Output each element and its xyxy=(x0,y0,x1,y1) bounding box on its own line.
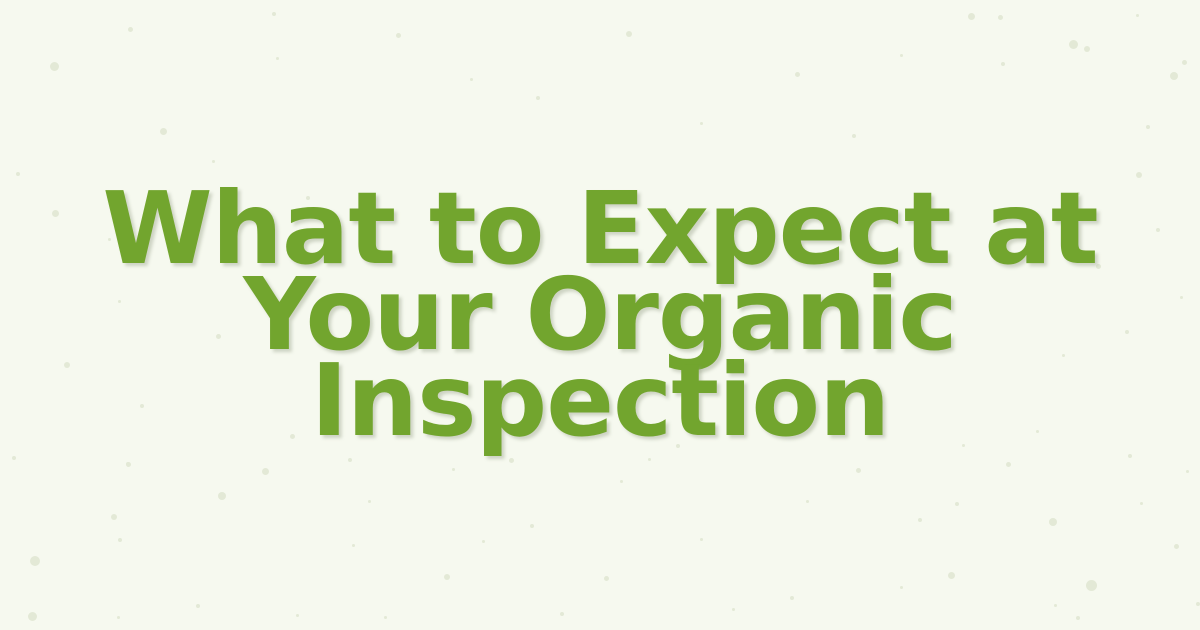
banner-canvas: What to Expect at Your Organic Inspectio… xyxy=(0,0,1200,630)
page-title: What to Expect at Your Organic Inspectio… xyxy=(102,186,1097,444)
title-block: What to Expect at Your Organic Inspectio… xyxy=(0,0,1200,630)
title-line-3: Inspection xyxy=(311,342,890,459)
